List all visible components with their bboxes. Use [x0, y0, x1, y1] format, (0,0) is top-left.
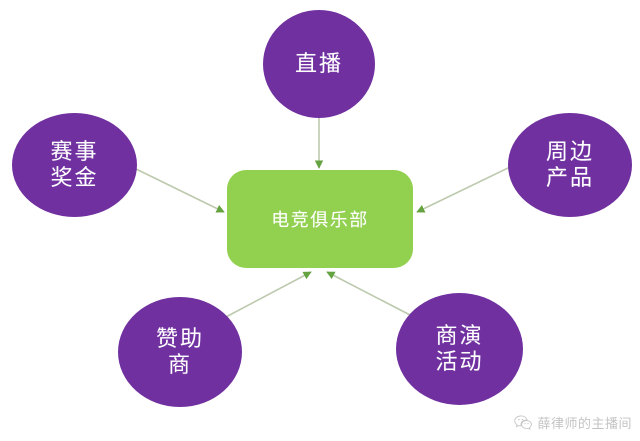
node-esports-club-label: 电竞俱乐部	[271, 206, 369, 232]
watermark: 薛律师的主播间	[514, 413, 632, 432]
connector-merchandise	[417, 166, 512, 212]
node-merchandise-label: 周边 产品	[546, 139, 594, 191]
wechat-icon	[514, 415, 532, 430]
node-merchandise[interactable]: 周边 产品	[508, 113, 632, 217]
node-commercial-events[interactable]: 商演 活动	[396, 293, 523, 405]
connector-commercial-events	[327, 272, 412, 316]
connector-tournament-prize	[134, 168, 224, 212]
watermark-text: 薛律师的主播间	[537, 413, 632, 432]
node-live-streaming-label: 直播	[295, 51, 343, 77]
node-esports-club[interactable]: 电竞俱乐部	[227, 170, 413, 268]
node-sponsors[interactable]: 赞助 商	[118, 297, 242, 407]
connector-sponsors	[224, 272, 311, 318]
node-live-streaming[interactable]: 直播	[263, 10, 375, 118]
node-commercial-events-label: 商演 活动	[435, 323, 483, 375]
diagram-canvas: 直播 赛事 奖金 周边 产品 赞助 商 商演 活动 电竞俱乐部 薛律师的主播间	[0, 0, 640, 441]
node-tournament-prize-label: 赛事 奖金	[50, 139, 98, 191]
node-sponsors-label: 赞助 商	[156, 326, 204, 378]
node-tournament-prize[interactable]: 赛事 奖金	[12, 113, 137, 217]
